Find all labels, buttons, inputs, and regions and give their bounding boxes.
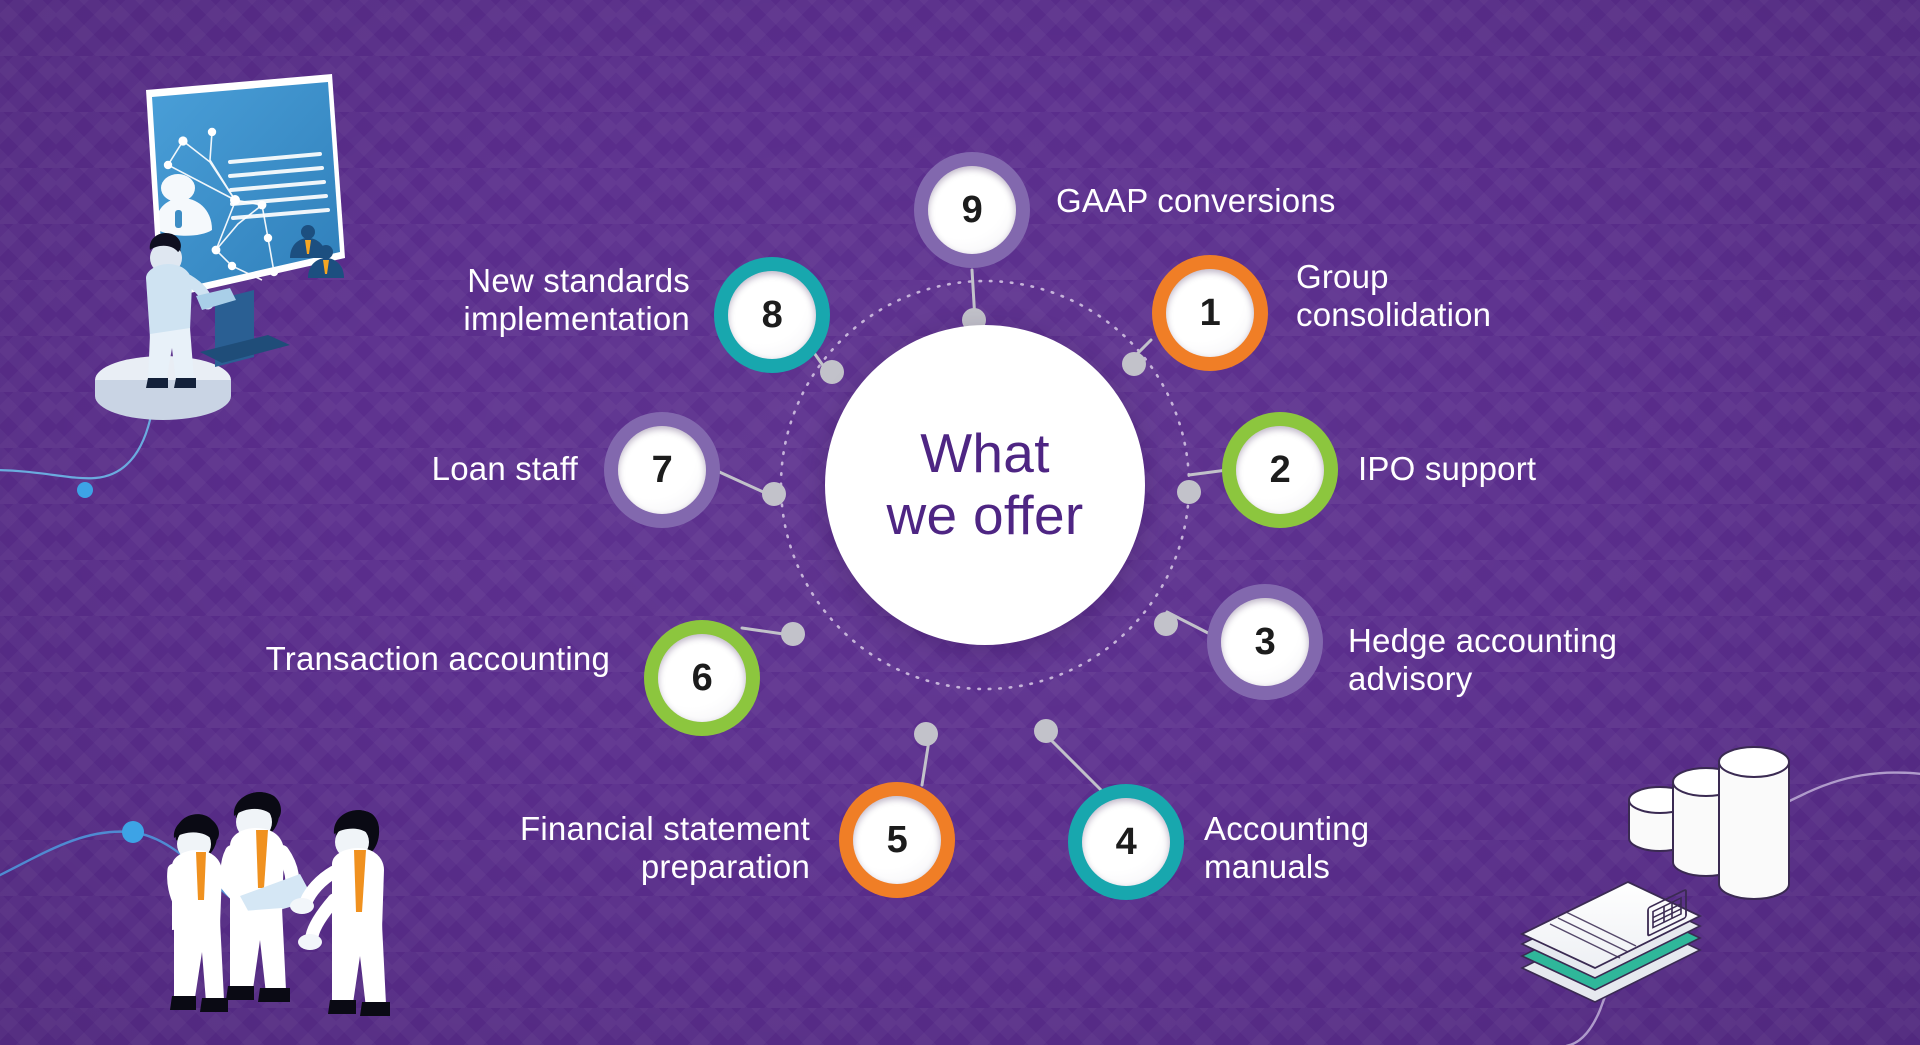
node-2[interactable]: 2 (1222, 412, 1338, 528)
node-4-disc: 4 (1082, 798, 1170, 886)
hub-title: What we offer (886, 423, 1083, 546)
business-people-illustration (0, 792, 390, 1016)
node-4[interactable]: 4 (1068, 784, 1184, 900)
node-6[interactable]: 6 (644, 620, 760, 736)
documents-and-bar-chart-illustration (1522, 747, 1920, 1045)
node-2-number: 2 (1270, 451, 1291, 489)
node-9-label: GAAP conversions (1056, 182, 1416, 220)
node-3-disc: 3 (1221, 598, 1309, 686)
node-1[interactable]: 1 (1152, 255, 1268, 371)
node-6-disc: 6 (658, 634, 746, 722)
node-1-disc: 1 (1166, 269, 1254, 357)
node-7[interactable]: 7 (604, 412, 720, 528)
node-1-label: Group consolidation (1296, 258, 1626, 335)
analytics-screen-illustration (0, 74, 345, 498)
node-8-label: New standards implementation (340, 262, 690, 339)
node-6-label: Transaction accounting (210, 640, 610, 678)
node-3-number: 3 (1255, 623, 1276, 661)
node-8-disc: 8 (728, 271, 816, 359)
node-6-number: 6 (692, 659, 713, 697)
node-8[interactable]: 8 (714, 257, 830, 373)
node-7-label: Loan staff (300, 450, 578, 488)
node-9-disc: 9 (928, 166, 1016, 254)
center-hub: What we offer (825, 325, 1145, 645)
node-7-disc: 7 (618, 426, 706, 514)
node-2-label: IPO support (1358, 450, 1688, 488)
node-9-number: 9 (962, 191, 983, 229)
node-3[interactable]: 3 (1207, 584, 1323, 700)
node-2-disc: 2 (1236, 426, 1324, 514)
node-7-number: 7 (652, 451, 673, 489)
node-4-number: 4 (1116, 823, 1137, 861)
node-5-number: 5 (887, 821, 908, 859)
node-9[interactable]: 9 (914, 152, 1030, 268)
node-5-disc: 5 (853, 796, 941, 884)
infographic-canvas: What we offer 1 Group consolidation 2 IP… (0, 0, 1920, 1045)
node-3-label: Hedge accounting advisory (1348, 622, 1688, 699)
node-5-label: Financial statement preparation (440, 810, 810, 887)
node-1-number: 1 (1200, 294, 1221, 332)
node-8-number: 8 (762, 296, 783, 334)
node-5[interactable]: 5 (839, 782, 955, 898)
node-4-label: Accounting manuals (1204, 810, 1524, 887)
